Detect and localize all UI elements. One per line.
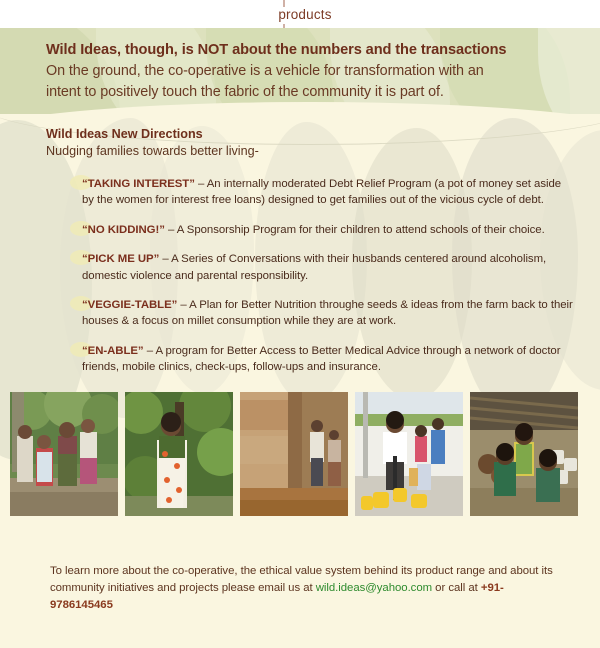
list-item: “NO KIDDING!” – A Sponsorship Program fo… xyxy=(82,222,574,238)
list-item: “TAKING INTEREST” – An internally modera… xyxy=(82,176,574,209)
section-title: Wild Ideas New Directions xyxy=(46,126,580,143)
program-description: – A program for Better Access to Better … xyxy=(82,345,560,373)
hero-band: Wild Ideas, though, is NOT about the num… xyxy=(0,28,600,114)
top-navigation-bar: < livelihoods | products | community > xyxy=(0,0,600,28)
list-item: “VEGGIE-TABLE” – A Plan for Better Nutri… xyxy=(82,297,574,330)
photo-mud-wall-house xyxy=(240,392,348,516)
nav-item-products[interactable]: products xyxy=(278,7,331,22)
program-name: “VEGGIE-TABLE” xyxy=(82,299,177,311)
photo-children-by-hut xyxy=(470,392,578,516)
photo-family-group xyxy=(10,392,118,516)
hero-subtitle-line2: intent to positively touch the fabric of… xyxy=(46,82,580,103)
list-item: “PICK ME UP” – A Series of Conversations… xyxy=(82,251,574,284)
hero-subtitle-line1: On the ground, the co-operative is a veh… xyxy=(46,61,580,82)
hero-text-block: Wild Ideas, though, is NOT about the num… xyxy=(46,40,580,103)
program-name: “NO KIDDING!” xyxy=(82,224,165,236)
program-list: “TAKING INTEREST” – An internally modera… xyxy=(82,176,574,389)
hero-title: Wild Ideas, though, is NOT about the num… xyxy=(46,40,580,61)
program-name: “EN-ABLE” xyxy=(82,345,144,357)
brochure-page: < livelihoods | products | community > W… xyxy=(0,0,600,648)
program-name: “PICK ME UP” xyxy=(82,253,159,265)
section-subtitle: Nudging families towards better living- xyxy=(46,143,580,160)
photo-strip xyxy=(10,392,590,516)
footer-contact-text: To learn more about the co-operative, th… xyxy=(50,563,558,614)
program-name: “TAKING INTEREST” xyxy=(82,178,195,190)
section-heading-block: Wild Ideas New Directions Nudging famili… xyxy=(46,126,580,160)
photo-man-with-yellow-sacks xyxy=(355,392,463,516)
photo-woman-in-sari xyxy=(125,392,233,516)
list-item: “EN-ABLE” – A program for Better Access … xyxy=(82,343,574,376)
email-link[interactable]: wild.ideas@yahoo.com xyxy=(316,582,432,594)
footer-text-middle: or call at xyxy=(432,582,481,594)
program-description: – A Sponsorship Program for their childr… xyxy=(165,224,545,236)
